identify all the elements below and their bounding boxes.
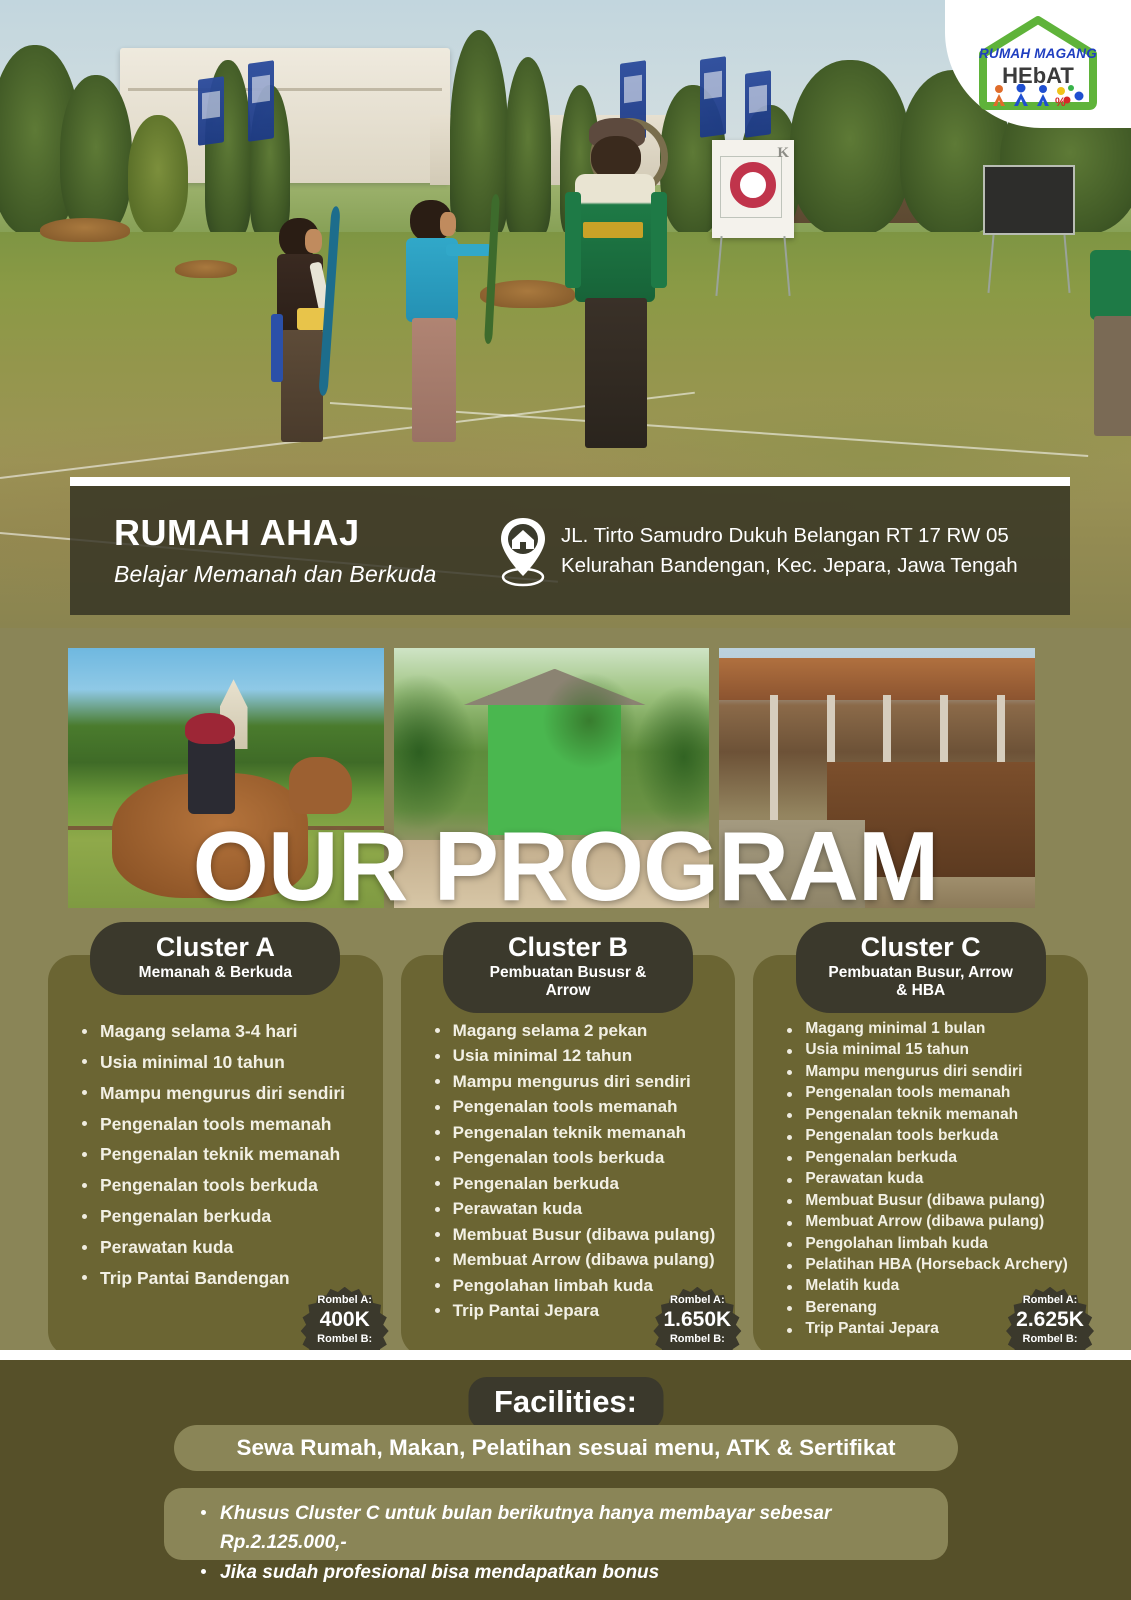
cluster-a-subtitle: Memanah & Berkuda: [120, 964, 310, 982]
rumah-magang-hebat-logo: RUMAH MAGANG HEbAT %: [963, 8, 1113, 116]
list-item: Membuat Arrow (dibawa pulang): [785, 1212, 1078, 1232]
cluster-card-b[interactable]: Cluster B Pembuatan Bususr & Arrow Magan…: [401, 955, 736, 1357]
price-label-a: Rombel A:: [1023, 1294, 1078, 1308]
list-item: Pengenalan tools memanah: [433, 1095, 726, 1118]
list-item: Mampu mengurus diri sendiri: [785, 1062, 1078, 1082]
svg-text:%: %: [1055, 95, 1066, 109]
cluster-b-subtitle: Pembuatan Bususr & Arrow: [473, 964, 663, 1000]
cluster-b-header: Cluster B Pembuatan Bususr & Arrow: [443, 922, 693, 1013]
venue-title-bar: RUMAH AHAJ Belajar Memanah dan Berkuda J…: [70, 477, 1070, 615]
cluster-a-feature-list: Magang selama 3-4 hari Usia minimal 10 t…: [80, 1019, 373, 1291]
list-item: Pengenalan tools berkuda: [433, 1146, 726, 1169]
list-item: Pelatihan HBA (Horseback Archery): [785, 1255, 1078, 1275]
list-item: Pengenalan tools berkuda: [785, 1126, 1078, 1146]
list-item: Magang selama 3-4 hari: [80, 1019, 373, 1044]
list-item: Mampu mengurus diri sendiri: [433, 1070, 726, 1093]
poster-root: K: [0, 0, 1131, 1600]
price-label-b: Rombel B:: [1023, 1333, 1078, 1347]
list-item: Pengenalan tools berkuda: [80, 1173, 373, 1198]
list-item: Pengenalan berkuda: [785, 1148, 1078, 1168]
list-item: Mampu mengurus diri sendiri: [80, 1081, 373, 1106]
target-stand: [716, 236, 790, 296]
venue-name: RUMAH AHAJ: [114, 513, 485, 553]
list-item: Perawatan kuda: [433, 1197, 726, 1220]
address-line-2: Kelurahan Bandengan, Kec. Jepara, Jawa T…: [561, 551, 1018, 580]
child-archer-4-partial: [1090, 250, 1131, 450]
child-archer-1: [265, 218, 345, 458]
facilities-notes-box: Khusus Cluster C untuk bulan berikutnya …: [164, 1488, 948, 1560]
cluster-card-c[interactable]: Cluster C Pembuatan Busur, Arrow & HBA M…: [753, 955, 1088, 1357]
black-board: [983, 165, 1075, 235]
board-stand: [988, 235, 1070, 293]
venue-tagline: Belajar Memanah dan Berkuda: [114, 561, 485, 588]
list-item: Pengenalan berkuda: [433, 1172, 726, 1195]
list-item: Pengenalan teknik memanah: [80, 1142, 373, 1167]
child-archer-3: [565, 118, 675, 468]
banner-flag: [198, 76, 224, 146]
banner-flag: [248, 60, 274, 142]
cluster-b-title: Cluster B: [473, 933, 663, 962]
price-label-a: Rombel A:: [670, 1294, 725, 1308]
list-item: Usia minimal 15 tahun: [785, 1040, 1078, 1060]
list-item: Membuat Arrow (dibawa pulang): [433, 1248, 726, 1271]
map-pin-house-icon: [485, 514, 561, 588]
list-item: Perawatan kuda: [80, 1235, 373, 1260]
children-figures-icon: %: [987, 84, 1087, 110]
archery-target: K: [712, 140, 794, 238]
list-item: Pengenalan tools memanah: [80, 1112, 373, 1137]
section-headline-our-program: OUR PROGRAM: [0, 810, 1131, 923]
logo-text-line1: RUMAH MAGANG: [963, 46, 1113, 61]
cluster-c-subtitle: Pembuatan Busur, Arrow & HBA: [826, 964, 1016, 1000]
price-amount-a: 2.625K: [1016, 1308, 1084, 1331]
price-label-b: Rombel B:: [317, 1333, 372, 1347]
title-bar-accent-strip: [70, 477, 1070, 486]
list-item: Khusus Cluster C untuk bulan berikutnya …: [198, 1499, 948, 1558]
banner-flag: [700, 56, 726, 138]
list-item: Membuat Busur (dibawa pulang): [785, 1191, 1078, 1211]
list-item: Magang minimal 1 bulan: [785, 1019, 1078, 1039]
facilities-accent-strip: [0, 1350, 1131, 1360]
address-line-1: JL. Tirto Samudro Dukuh Belangan RT 17 R…: [561, 521, 1018, 550]
facilities-notes-list: Khusus Cluster C untuk bulan berikutnya …: [198, 1499, 948, 1587]
list-item: Pengenalan tools memanah: [785, 1083, 1078, 1103]
cluster-b-feature-list: Magang selama 2 pekan Usia minimal 12 ta…: [433, 1019, 726, 1322]
venue-identity: RUMAH AHAJ Belajar Memanah dan Berkuda: [70, 513, 485, 589]
list-item: Usia minimal 12 tahun: [433, 1044, 726, 1067]
list-item: Membuat Busur (dibawa pulang): [433, 1223, 726, 1246]
list-item: Magang selama 2 pekan: [433, 1019, 726, 1042]
cluster-c-title: Cluster C: [826, 933, 1016, 962]
list-item: Perawatan kuda: [785, 1169, 1078, 1189]
cluster-a-header: Cluster A Memanah & Berkuda: [90, 922, 340, 995]
program-cluster-list: Cluster A Memanah & Berkuda Magang selam…: [48, 955, 1088, 1357]
list-item: Pengolahan limbah kuda: [785, 1234, 1078, 1254]
price-amount-a: 1.650K: [663, 1308, 731, 1331]
facilities-summary-box: Sewa Rumah, Makan, Pelatihan sesuai menu…: [174, 1425, 958, 1471]
list-item: Trip Pantai Bandengan: [80, 1266, 373, 1291]
facilities-heading: Facilities:: [494, 1384, 637, 1419]
facilities-summary: Sewa Rumah, Makan, Pelatihan sesuai menu…: [237, 1435, 896, 1461]
banner-flag: [745, 70, 771, 138]
list-item: Pengenalan berkuda: [80, 1204, 373, 1229]
cluster-card-a[interactable]: Cluster A Memanah & Berkuda Magang selam…: [48, 955, 383, 1357]
price-label-b: Rombel B:: [670, 1333, 725, 1347]
list-item: Pengenalan teknik memanah: [785, 1105, 1078, 1125]
child-archer-2: [396, 200, 486, 462]
cluster-c-header: Cluster C Pembuatan Busur, Arrow & HBA: [796, 922, 1046, 1013]
list-item: Jika sudah profesional bisa mendapatkan …: [198, 1558, 948, 1587]
price-amount-a: 400K: [320, 1308, 370, 1331]
list-item: Usia minimal 10 tahun: [80, 1050, 373, 1075]
list-item: Pengenalan teknik memanah: [433, 1121, 726, 1144]
venue-address: JL. Tirto Samudro Dukuh Belangan RT 17 R…: [561, 521, 1018, 579]
price-label-a: Rombel A:: [317, 1294, 372, 1308]
cluster-a-title: Cluster A: [120, 933, 310, 962]
facilities-heading-pill: Facilities:: [468, 1377, 663, 1430]
